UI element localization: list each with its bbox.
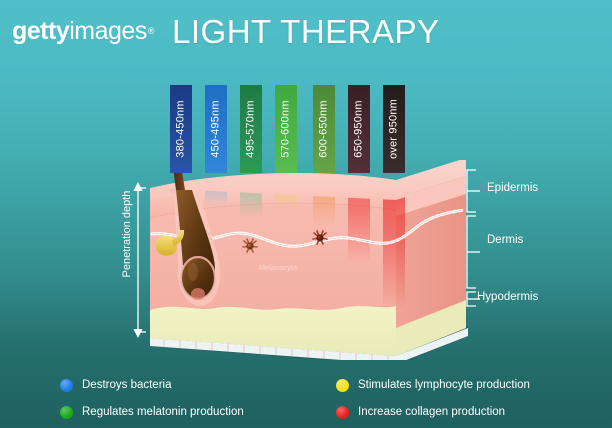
wavelength-bar-label: 570-600nm (281, 100, 292, 157)
skin-svg: Melanocyte (138, 160, 478, 360)
wavelength-bar-label: 600-650nm (319, 100, 330, 157)
layer-brackets (462, 166, 484, 308)
wavelength-bar-over-950nm[interactable]: over 950nm (383, 85, 405, 173)
legend-color-dot-icon (60, 379, 73, 392)
watermark-light-text: images (69, 16, 147, 46)
wavelength-bar-380-450nm[interactable]: 380-450nm (170, 85, 192, 173)
wavelength-bar-570-600nm[interactable]: 570-600nm (275, 85, 297, 173)
legend-color-dot-icon (336, 379, 349, 392)
wavelength-bar-495-570nm[interactable]: 495-570nm (240, 85, 262, 173)
wavelength-bar-label: 495-570nm (246, 100, 257, 157)
wavelength-bar-label: 380-450nm (176, 100, 187, 157)
wavelength-bar-label: 650-950nm (354, 100, 365, 157)
getty-images-watermark: gettyimages® (12, 16, 154, 46)
legend-item-label: Stimulates lymphocyte production (358, 379, 530, 392)
legend: Destroys bacteriaRegulates melatonin pro… (60, 379, 600, 425)
wavelength-bar-label: 450-495nm (211, 100, 222, 157)
legend-item[interactable]: Stimulates lymphocyte production (336, 379, 530, 392)
legend-color-dot-icon (336, 406, 349, 419)
legend-item[interactable]: Increase collagen production (336, 406, 505, 419)
legend-item-label: Destroys bacteria (82, 379, 171, 392)
skin-cross-section-illustration: Melanocyte (138, 160, 478, 360)
wavelength-bar-650-950nm[interactable]: 650-950nm (348, 85, 370, 173)
layer-label-epidermis: Epidermis (487, 182, 538, 195)
wavelength-bar-450-495nm[interactable]: 450-495nm (205, 85, 227, 173)
legend-item-label: Regulates melatonin production (82, 406, 244, 419)
penetration-depth-label: Penetration depth (121, 169, 133, 299)
wavelength-bar-600-650nm[interactable]: 600-650nm (313, 85, 335, 173)
infographic-canvas: gettyimages® LIGHT THERAPY (0, 0, 612, 428)
legend-item-label: Increase collagen production (358, 406, 505, 419)
legend-item[interactable]: Regulates melatonin production (60, 406, 244, 419)
page-title: LIGHT THERAPY (172, 12, 440, 52)
watermark-bold-text: getty (12, 16, 69, 46)
legend-color-dot-icon (60, 406, 73, 419)
wavelength-bar-label: over 950nm (389, 99, 400, 159)
layer-label-hypodermis: Hypodermis (477, 291, 538, 304)
melanocyte-label: Melanocyte (259, 263, 297, 272)
legend-item[interactable]: Destroys bacteria (60, 379, 171, 392)
layer-label-dermis: Dermis (487, 234, 523, 247)
registered-mark-icon: ® (148, 16, 154, 46)
penetration-depth-axis: Penetration depth (100, 180, 146, 340)
